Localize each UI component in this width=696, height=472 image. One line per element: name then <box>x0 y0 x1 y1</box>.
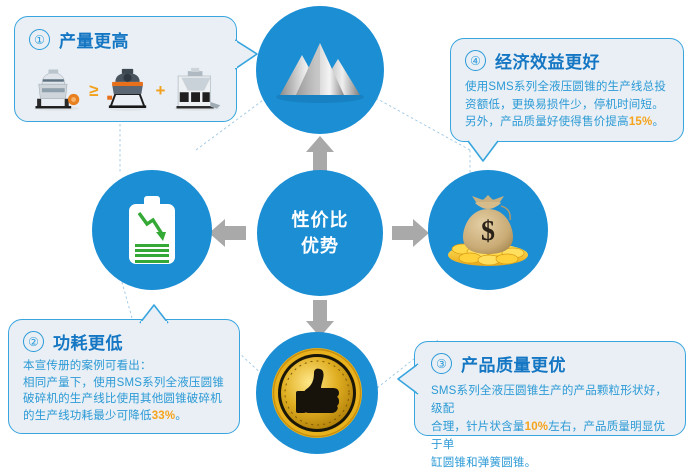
callout-4-line-1: 使用SMS系列全液压圆锥的生产线总投 <box>465 79 671 97</box>
callout-2-line-2: 相同产量下，使用SMS系列全液压圆锥 <box>23 375 229 392</box>
operator-plus: + <box>156 81 166 117</box>
infographic-canvas: 性价比 优势 <box>0 0 696 453</box>
callout-1-tail <box>235 38 261 72</box>
callout-2-tail <box>138 303 172 325</box>
battery-low-icon <box>129 196 175 264</box>
center-hub-label: 性价比 优势 <box>292 207 349 259</box>
thumbs-up-medal-icon <box>271 347 363 439</box>
callout-4-title: 经济效益更好 <box>495 48 600 73</box>
arrow-right <box>392 219 429 247</box>
callout-2-line-3: 破碎机的生产线比使用其他圆锥破碎机 <box>23 391 229 408</box>
callout-1-header: ① 产量更高 <box>29 27 224 52</box>
callout-3-tail <box>396 362 420 396</box>
callout-1-number: ① <box>29 29 50 50</box>
callout-3-number: ③ <box>431 353 452 374</box>
circle-output <box>256 6 384 134</box>
callout-4-line-3-post: 。 <box>652 116 664 128</box>
callout-2-line-4: 的生产线功耗最少可降低33%。 <box>23 408 229 425</box>
money-bag-icon: $ <box>445 193 531 267</box>
center-hub-line1: 性价比 <box>292 207 349 233</box>
callout-3-body: SMS系列全液压圆锥生产的产品颗粒形状好，级配 合理，针片状含量10%左右，产品… <box>431 382 673 472</box>
sms-hydraulic-cone-crusher-image <box>29 61 84 117</box>
circle-economic-benefit: $ <box>428 170 548 290</box>
callout-4-body: 使用SMS系列全液压圆锥的生产线总投 资额低，更换易损件少，停机时间短。 另外，… <box>465 79 671 132</box>
center-hub-circle: 性价比 优势 <box>257 170 383 296</box>
gravel-piles-icon <box>272 35 368 105</box>
callout-3-line-3: 缸圆锥和弹簧圆锥。 <box>431 454 673 472</box>
callout-3-line-2: 合理，针片状含量10%左右，产品质量明显优于单 <box>431 418 673 454</box>
battery-bar <box>135 244 169 247</box>
battery-bar <box>135 254 169 257</box>
callout-3-line-1: SMS系列全液压圆锥生产的产品颗粒形状好，级配 <box>431 382 673 418</box>
callout-1-title: 产量更高 <box>59 27 129 52</box>
center-hub-line2: 优势 <box>292 233 349 259</box>
callout-box-1-output: ① 产量更高 ≥ <box>14 16 237 122</box>
callout-box-3-quality: ③ 产品质量更优 SMS系列全液压圆锥生产的产品颗粒形状好，级配 合理，针片状含… <box>414 341 686 436</box>
callout-2-line-1: 本宣传册的案例可看出： <box>23 358 229 375</box>
callout-3-title: 产品质量更优 <box>461 351 566 376</box>
callout-2-line-4-pre: 的生产线功耗最少可降低 <box>23 410 152 422</box>
callout-3-header: ③ 产品质量更优 <box>431 351 673 376</box>
battery-bar <box>135 249 169 252</box>
arrow-up <box>306 136 334 171</box>
callout-2-header: ② 功耗更低 <box>23 329 229 354</box>
callout-box-4-economy: ④ 经济效益更好 使用SMS系列全液压圆锥的生产线总投 资额低，更换易损件少，停… <box>450 38 684 142</box>
callout-2-body: 本宣传册的案例可看出： 相同产量下，使用SMS系列全液压圆锥 破碎机的生产线比使… <box>23 358 229 424</box>
arrow-left <box>209 219 246 247</box>
callout-2-title: 功耗更低 <box>53 329 123 354</box>
callout-4-line-2: 资额低，更换易损件少，停机时间短。 <box>465 97 671 115</box>
callout-2-line-4-post: 。 <box>175 410 187 422</box>
callout-3-highlight: 10% <box>525 421 549 433</box>
callout-2-highlight: 33% <box>152 410 176 422</box>
battery-down-arrow-icon <box>136 210 169 244</box>
callout-3-line-2-pre: 合理，针片状含量 <box>431 421 525 433</box>
svg-text:$: $ <box>481 216 495 247</box>
battery-bar <box>135 260 169 263</box>
circle-power-consumption <box>92 170 212 290</box>
callout-2-number: ② <box>23 331 44 352</box>
circle-product-quality <box>256 332 378 454</box>
operator-ge: ≥ <box>89 81 98 117</box>
callout-4-highlight: 15% <box>629 116 653 128</box>
callout-4-tail <box>466 139 500 163</box>
single-cylinder-cone-crusher-image <box>104 63 151 117</box>
callout-4-line-3-pre: 另外，产品质量好使得售价提高 <box>465 116 629 128</box>
spring-cone-crusher-image <box>170 61 224 117</box>
callout-box-2-power: ② 功耗更低 本宣传册的案例可看出： 相同产量下，使用SMS系列全液压圆锥 破碎… <box>8 319 240 434</box>
machine-comparison-row: ≥ + <box>29 59 224 117</box>
callout-4-number: ④ <box>465 50 486 71</box>
callout-4-line-3: 另外，产品质量好使得售价提高15%。 <box>465 114 671 132</box>
callout-4-header: ④ 经济效益更好 <box>465 48 671 73</box>
battery-level-bars <box>135 244 169 260</box>
